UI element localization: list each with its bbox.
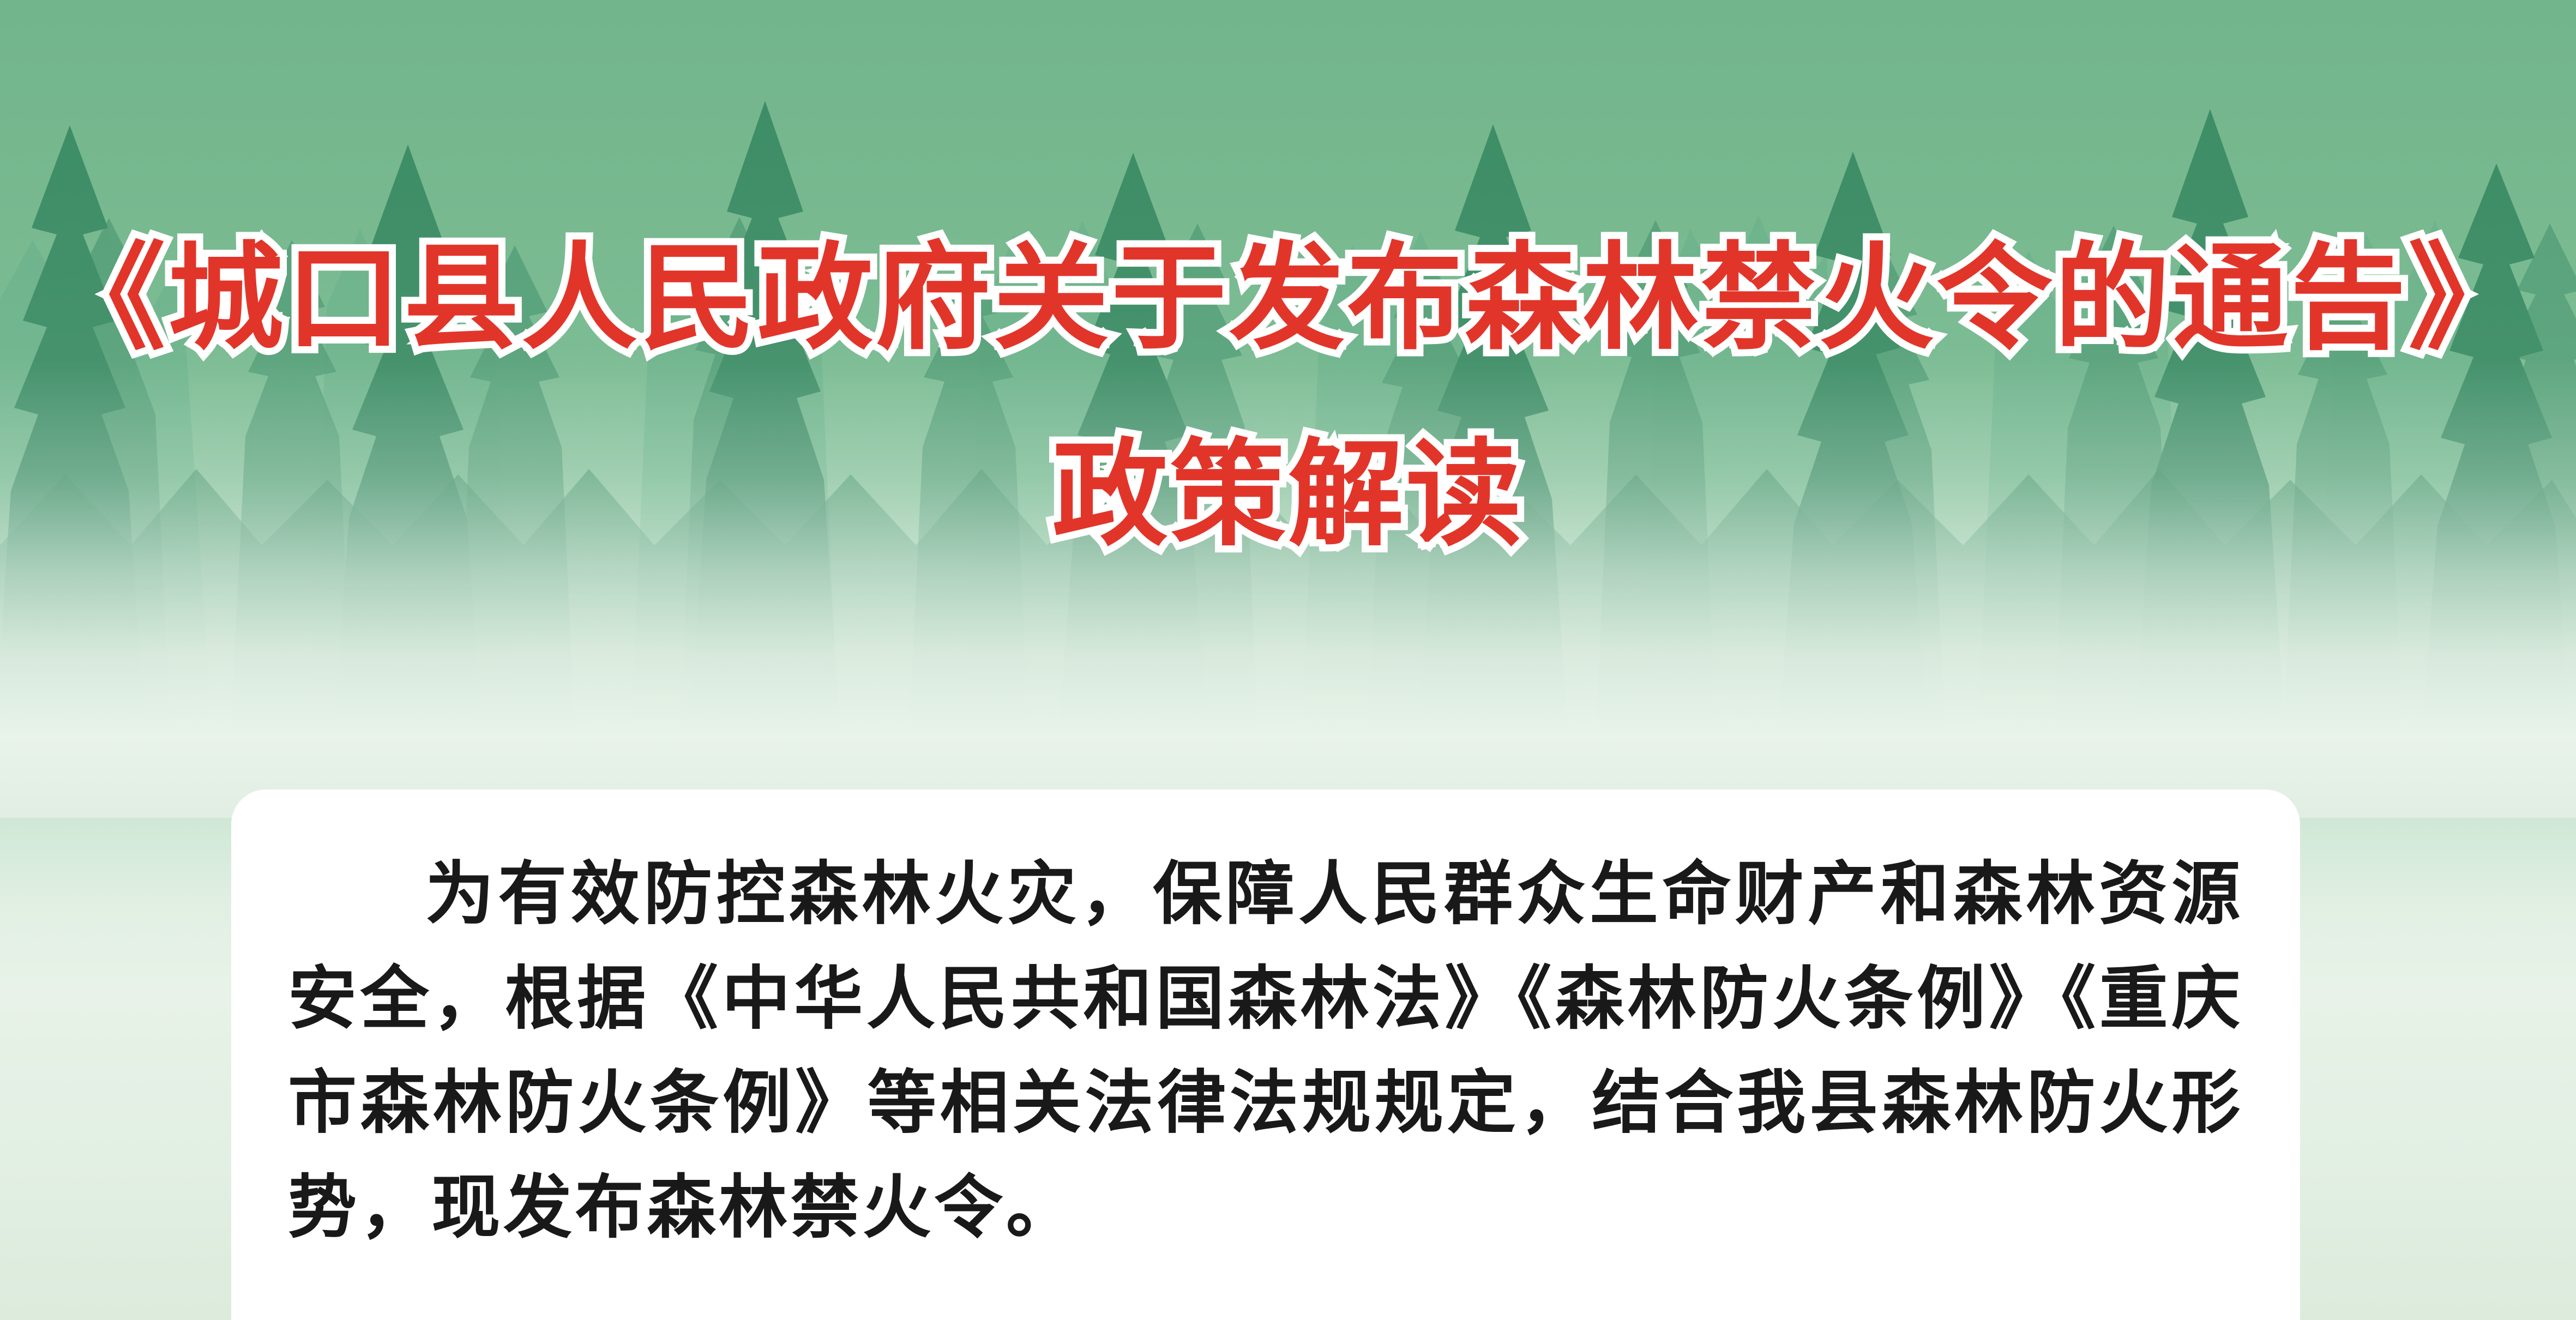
page-title: 《城口县人民政府关于发布森林禁火令的通告》 [0,240,2576,355]
content-card: 为有效防控森林火灾，保障人民群众生命财产和森林资源安全，根据《中华人民共和国森林… [231,789,2300,1320]
background-fade-overlay [0,0,2576,818]
policy-interpretation-poster: 《城口县人民政府关于发布森林禁火令的通告》 政策解读 为有效防控森林火灾，保障人… [0,0,2576,1320]
page-subtitle: 政策解读 [0,436,2576,552]
body-paragraph: 为有效防控森林火灾，保障人民群众生命财产和森林资源安全，根据《中华人民共和国森林… [288,842,2243,1259]
